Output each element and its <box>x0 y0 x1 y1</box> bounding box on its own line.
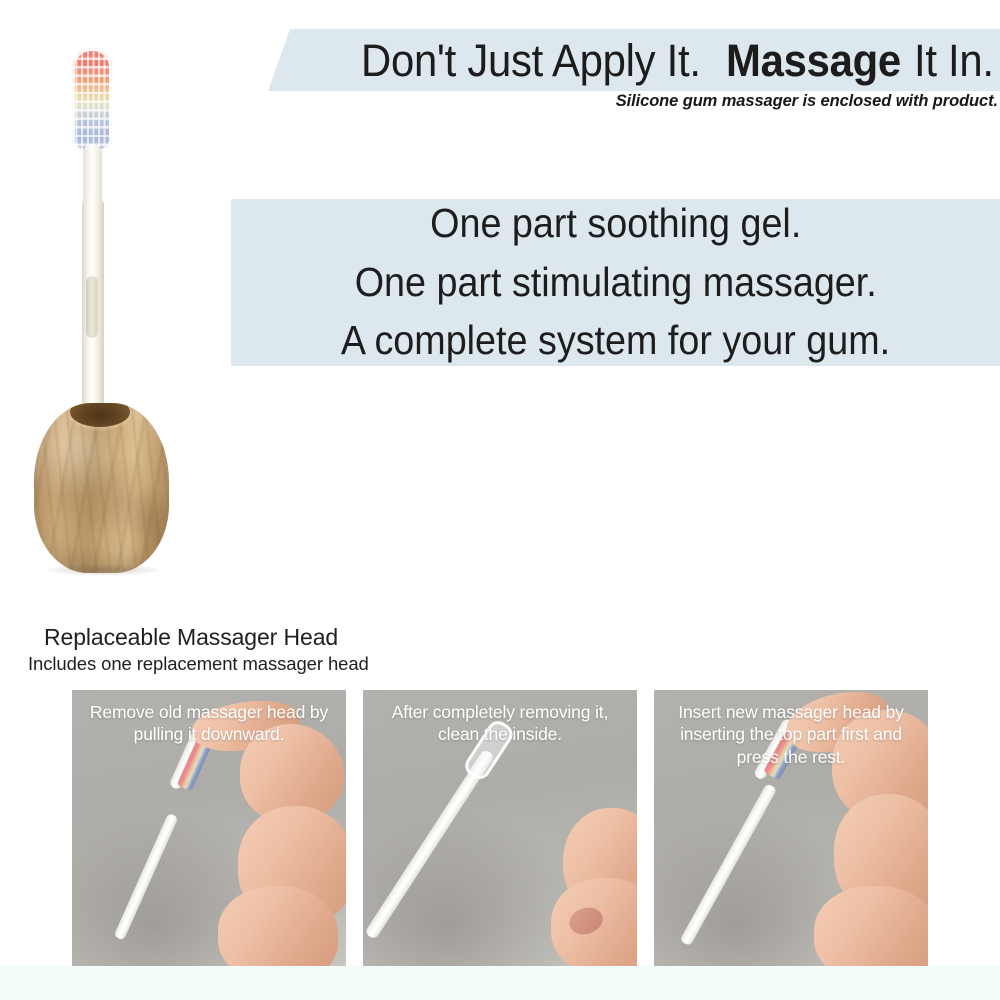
section-subtitle: Includes one replacement massager head <box>28 653 369 675</box>
step-caption-1: Remove old massager head by pulling it d… <box>82 701 336 746</box>
step-panel-2: After completely removing it, clean the … <box>363 690 637 967</box>
wood-grain-knots <box>34 434 169 553</box>
claim-line-1: One part soothing gel. <box>430 195 801 252</box>
step-caption-2: After completely removing it, clean the … <box>373 701 627 746</box>
stand-drop-shadow <box>44 564 162 576</box>
headline-part2: It In. <box>914 38 994 83</box>
handle-shape <box>114 813 179 941</box>
hand-shape <box>814 886 928 967</box>
handle-shape <box>679 783 777 946</box>
bottom-accent-band <box>0 966 1000 1000</box>
brush-handle-grip <box>86 276 98 338</box>
step-panel-group: Remove old massager head by pulling it d… <box>72 690 928 967</box>
product-hero-photo <box>20 28 220 588</box>
claim-line-3: A complete system for your gum. <box>341 312 890 369</box>
step-panel-3: Insert new massager head by inserting th… <box>654 690 928 967</box>
massager-head-nubs <box>72 48 112 152</box>
step-panel-1: Remove old massager head by pulling it d… <box>72 690 346 967</box>
claim-line-2: One part stimulating massager. <box>354 254 876 311</box>
headline-emphasis: Massage <box>726 38 901 83</box>
headline-part1: Don't Just Apply It. <box>361 38 701 83</box>
step-caption-3: Insert new massager head by inserting th… <box>664 701 918 768</box>
hand-shape <box>218 886 338 967</box>
claim-text-group: One part soothing gel. One part stimulat… <box>231 197 1000 367</box>
headline-subtitle: Silicone gum massager is enclosed with p… <box>298 92 998 111</box>
page-headline: Don't Just Apply It. Massage It In. <box>300 28 1000 92</box>
wooden-stand <box>34 403 169 573</box>
section-title: Replaceable Massager Head <box>44 624 338 651</box>
